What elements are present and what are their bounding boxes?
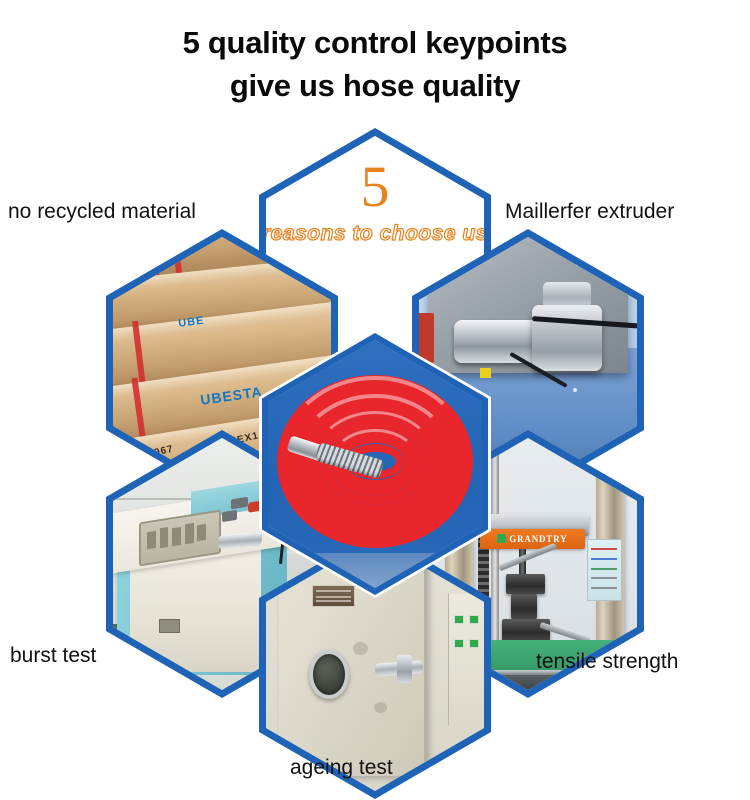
nameplate-line [316,596,351,598]
honeycomb-diagram: 5 reasons to choose us UBESTA UBE [0,0,750,800]
burst-test-lower-panel [159,619,179,632]
label-ageing-test: ageing test [290,756,393,780]
tensile-info-poster [587,539,622,601]
brand-logo-icon [497,534,506,543]
gauge [160,527,169,549]
extruder-motor-top [543,282,591,307]
nameplate-line [316,600,351,602]
indicator-led [469,639,479,648]
indicator-led [454,639,464,648]
reasons-caption: reasons to choose us [266,222,484,246]
label-burst-test: burst test [10,644,96,668]
tensile-mid-grip [511,594,537,619]
sack-brand-text: UBESTA [199,384,263,409]
gauge [173,527,182,546]
sack-brand-text-partial: UBE [178,315,206,330]
extruder-red-part [419,313,434,363]
poster-line [591,568,617,570]
extruder-bolt [548,244,552,248]
door-smudge [353,642,368,655]
indicator-led [454,615,464,624]
door-seam [424,559,427,776]
extruder-yellow-tag [480,368,491,378]
poster-line [591,587,617,589]
gauge [198,524,207,541]
label-tensile-strength: tensile strength [536,650,678,674]
label-maillerfer-extruder: Maillerfer extruder [505,200,674,224]
extruder-barrel [454,320,541,363]
extruder-bolt [573,388,577,392]
ageing-oven-control-panel[interactable] [448,594,484,725]
hose-coil-group [277,375,474,549]
tensile-upper-grip [506,574,545,594]
tensile-brand-banner: GRANDTRY [480,529,585,549]
gauge [147,531,156,549]
door-smudge [374,702,387,713]
gauge [185,523,194,545]
extruder-motor [532,305,602,371]
indicator-led [469,615,479,624]
extruder-bolt [576,262,580,266]
oven-nameplate [312,585,356,607]
oven-porthole-window [309,650,350,699]
reasons-number: 5 [266,158,484,216]
poster-line [591,577,617,579]
oven-handle-knob[interactable] [397,655,412,683]
tensile-brand-text: GRANDTRY [509,534,567,544]
poster-line [591,548,617,550]
poster-line [591,558,617,560]
label-no-recycled-material: no recycled material [8,200,196,224]
nameplate-line [316,590,351,592]
sack-code: D3967 [139,443,175,461]
